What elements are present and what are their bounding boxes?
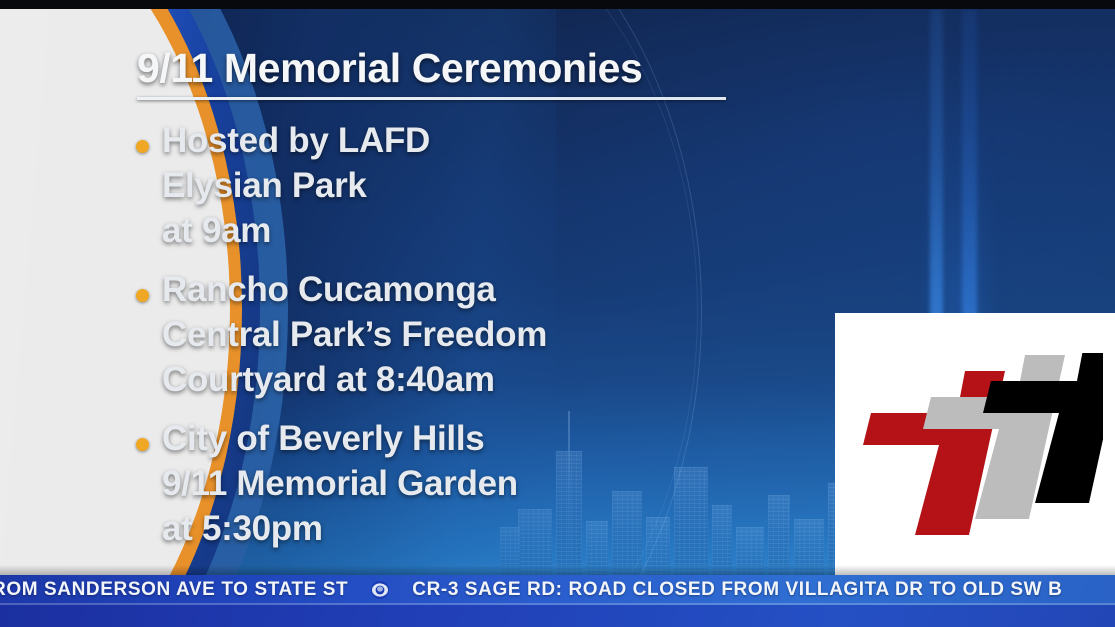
top-black-bar xyxy=(0,0,1115,9)
list-item-lines: City of Beverly Hills 9/11 Memorial Gard… xyxy=(162,416,772,551)
cbs-eye-icon xyxy=(370,580,390,600)
list-item-line: Courtyard at 8:40am xyxy=(162,357,772,402)
list-item: Hosted by LAFD Elysian Park at 9am xyxy=(132,118,772,253)
ticker-item: CR-3 SAGE RD: ROAD CLOSED FROM VILLAGITA… xyxy=(412,579,1062,601)
list-item-lines: Rancho Cucamonga Central Park’s Freedom … xyxy=(162,267,772,402)
list-item-line: at 9am xyxy=(162,208,772,253)
list-item-line: Elysian Park xyxy=(162,163,772,208)
list-item-line: at 5:30pm xyxy=(162,506,772,551)
title-underline xyxy=(137,97,726,100)
list-item-line: City of Beverly Hills xyxy=(162,416,772,461)
ticker-row: ROM SANDERSON AVE TO STATE ST CR-3 SAGE … xyxy=(0,575,1062,605)
list-item-lines: Hosted by LAFD Elysian Park at 9am xyxy=(162,118,772,253)
triple-t-logo xyxy=(853,353,1103,553)
list-item-line: Hosted by LAFD xyxy=(162,118,772,163)
page-title: 9/11 Memorial Ceremonies xyxy=(137,45,642,92)
list-item: City of Beverly Hills 9/11 Memorial Gard… xyxy=(132,416,772,551)
bullet-dot-icon xyxy=(136,140,149,153)
list-item-line: Central Park’s Freedom xyxy=(162,312,772,357)
list-item-line: Rancho Cucamonga xyxy=(162,267,772,312)
ticker-item: ROM SANDERSON AVE TO STATE ST xyxy=(0,579,348,601)
bullet-list: Hosted by LAFD Elysian Park at 9am Ranch… xyxy=(132,118,772,565)
news-ticker[interactable]: ROM SANDERSON AVE TO STATE ST CR-3 SAGE … xyxy=(0,575,1115,605)
broadcast-screen: 9/11 Memorial Ceremonies Hosted by LAFD … xyxy=(0,0,1115,627)
bullet-dot-icon xyxy=(136,438,149,451)
station-logo-box[interactable] xyxy=(835,313,1115,580)
bullet-dot-icon xyxy=(136,289,149,302)
list-item-line: 9/11 Memorial Garden xyxy=(162,461,772,506)
ticker-lower-band xyxy=(0,605,1115,627)
list-item: Rancho Cucamonga Central Park’s Freedom … xyxy=(132,267,772,402)
